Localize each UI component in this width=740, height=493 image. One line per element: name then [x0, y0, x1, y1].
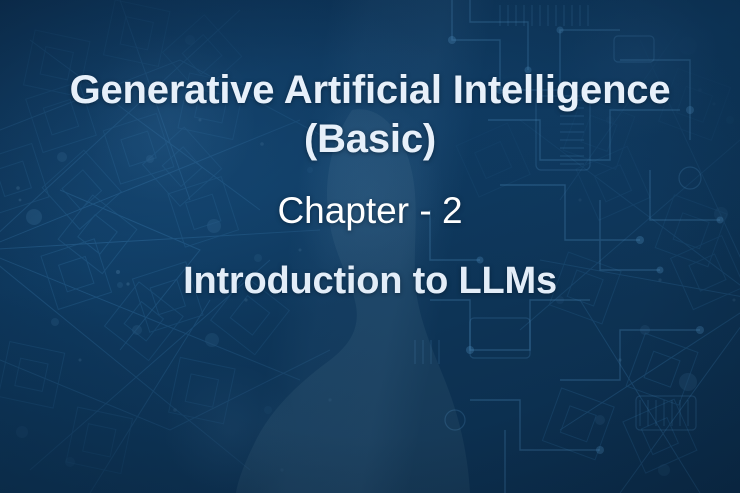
chapter-label: Chapter - 2 — [0, 189, 740, 233]
slide-title-line-1: Generative Artificial Intelligence — [40, 66, 700, 115]
slide-content: Generative Artificial Intelligence (Basi… — [0, 0, 740, 493]
slide-title: Generative Artificial Intelligence (Basi… — [0, 66, 740, 164]
presentation-slide: Generative Artificial Intelligence (Basi… — [0, 0, 740, 493]
topic-title: Introduction to LLMs — [0, 258, 740, 304]
slide-title-line-2: (Basic) — [40, 115, 700, 164]
